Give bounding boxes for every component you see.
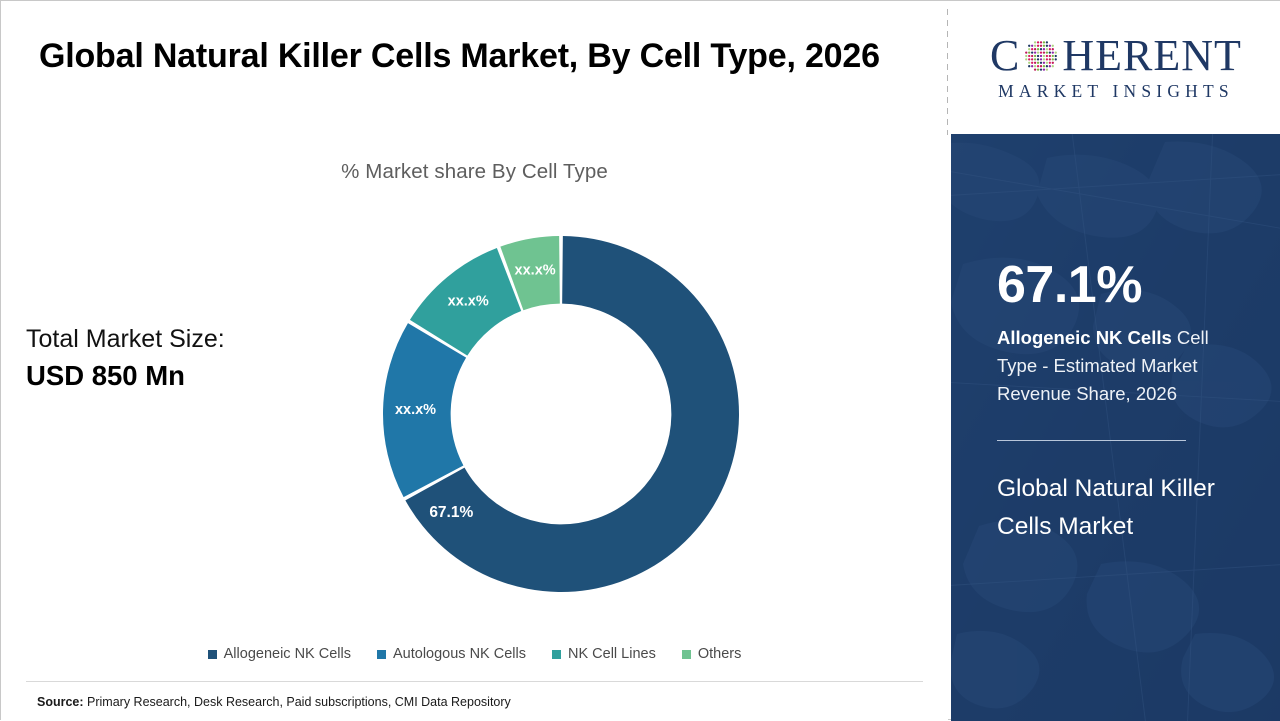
company-logo: C HERENT MARKET INSIGHTS [951, 1, 1280, 134]
globe-dot [1043, 48, 1045, 50]
globe-dot [1043, 42, 1045, 44]
panel-divider [947, 9, 948, 135]
globe-dot [1040, 62, 1042, 64]
stat-divider [997, 440, 1186, 441]
stat-description-highlight: Allogeneic NK Cells [997, 327, 1172, 348]
globe-dot [1026, 52, 1028, 54]
globe-dot [1028, 48, 1030, 50]
donut-slice-label: xx.x% [448, 294, 489, 310]
globe-dot [1040, 59, 1042, 61]
globe-dot [1040, 69, 1042, 71]
globe-dot [1031, 52, 1033, 54]
globe-dot [1031, 62, 1033, 64]
chart-legend: Allogeneic NK CellsAutologous NK CellsNK… [1, 646, 948, 662]
globe-dot [1031, 59, 1033, 61]
legend-item[interactable]: NK Cell Lines [552, 646, 656, 662]
globe-dot [1037, 48, 1039, 50]
globe-dot [1034, 69, 1036, 71]
market-name: Global Natural Killer Cells Market [997, 470, 1247, 545]
legend-swatch-icon [208, 650, 217, 659]
globe-dot [1049, 65, 1051, 67]
globe-dot [1040, 52, 1042, 54]
globe-dot [1043, 62, 1045, 64]
globe-dot [1055, 52, 1057, 54]
globe-dot [1052, 45, 1054, 47]
globe-dot [1049, 52, 1051, 54]
legend-item[interactable]: Autologous NK Cells [377, 646, 526, 662]
right-sidebar: C HERENT MARKET INSIGHTS [951, 1, 1280, 721]
infographic-root: Global Natural Killer Cells Market, By C… [0, 0, 1280, 720]
donut-chart: 67.1%xx.x%xx.x%xx.x% [379, 232, 743, 596]
globe-dot [1028, 65, 1030, 67]
globe-dot [1052, 48, 1054, 50]
globe-dot [1049, 62, 1051, 64]
legend-label: Allogeneic NK Cells [224, 646, 351, 662]
globe-dot [1031, 55, 1033, 57]
globe-dot [1026, 59, 1028, 61]
globe-dot [1049, 48, 1051, 50]
globe-dot [1040, 48, 1042, 50]
globe-dot [1037, 45, 1039, 47]
globe-dot [1037, 65, 1039, 67]
chart-subtitle: % Market share By Cell Type [1, 160, 948, 184]
globe-icon [1021, 36, 1061, 76]
globe-dot [1043, 59, 1045, 61]
globe-dot [1028, 62, 1030, 64]
globe-dot [1034, 59, 1036, 61]
legend-label: Autologous NK Cells [393, 646, 526, 662]
globe-dot [1040, 55, 1042, 57]
donut-slices [383, 236, 739, 592]
source-text: Primary Research, Desk Research, Paid su… [84, 695, 511, 709]
globe-dot [1052, 59, 1054, 61]
globe-dot [1028, 45, 1030, 47]
total-market-size-label: Total Market Size: [26, 323, 326, 357]
stat-content: 67.1% Allogeneic NK Cells Cell Type - Es… [997, 134, 1267, 545]
globe-dot [1040, 65, 1042, 67]
left-content-panel: Global Natural Killer Cells Market, By C… [1, 1, 948, 721]
donut-slice-label: xx.x% [515, 263, 556, 279]
globe-dot [1037, 52, 1039, 54]
globe-dot [1046, 42, 1048, 44]
globe-dot [1034, 52, 1036, 54]
globe-dot [1043, 52, 1045, 54]
legend-label: Others [698, 646, 742, 662]
globe-dot [1052, 52, 1054, 54]
logo-wordmark: C HERENT [990, 34, 1242, 78]
globe-dot [1055, 55, 1057, 57]
globe-dot [1043, 69, 1045, 71]
donut-slice-label: xx.x% [395, 402, 436, 418]
source-divider [26, 681, 923, 682]
globe-dot [1028, 52, 1030, 54]
globe-dot [1034, 55, 1036, 57]
legend-swatch-icon [377, 650, 386, 659]
source-note: Source: Primary Research, Desk Research,… [37, 695, 511, 709]
donut-chart-svg: 67.1%xx.x%xx.x%xx.x% [379, 232, 743, 596]
legend-swatch-icon [682, 650, 691, 659]
logo-tagline: MARKET INSIGHTS [998, 83, 1234, 101]
globe-dot [1052, 65, 1054, 67]
globe-dot [1034, 42, 1036, 44]
globe-dot [1046, 59, 1048, 61]
globe-dot [1052, 55, 1054, 57]
globe-dot [1028, 59, 1030, 61]
globe-dot [1046, 52, 1048, 54]
globe-dot [1055, 59, 1057, 61]
globe-dot [1052, 62, 1054, 64]
globe-dot [1049, 55, 1051, 57]
page-title: Global Natural Killer Cells Market, By C… [39, 31, 909, 81]
globe-dot [1031, 48, 1033, 50]
globe-dot [1034, 62, 1036, 64]
globe-dot [1034, 45, 1036, 47]
globe-dot [1037, 69, 1039, 71]
globe-dot [1046, 69, 1048, 71]
globe-dot [1046, 65, 1048, 67]
globe-dot [1046, 62, 1048, 64]
stat-description: Allogeneic NK Cells Cell Type - Estimate… [997, 324, 1247, 408]
legend-item[interactable]: Allogeneic NK Cells [208, 646, 351, 662]
logo-letter-c: C [990, 34, 1020, 78]
logo-wordmark-rest: HERENT [1062, 34, 1242, 78]
globe-dot [1046, 48, 1048, 50]
globe-dot [1026, 55, 1028, 57]
total-market-size-value: USD 850 Mn [26, 357, 326, 394]
legend-item[interactable]: Others [682, 646, 742, 662]
donut-slice-label: 67.1% [429, 504, 473, 521]
globe-dot [1037, 59, 1039, 61]
globe-dot [1049, 59, 1051, 61]
globe-dot [1049, 45, 1051, 47]
highlight-stat-panel: 67.1% Allogeneic NK Cells Cell Type - Es… [951, 134, 1280, 721]
stat-value: 67.1% [997, 259, 1267, 311]
globe-dot [1031, 45, 1033, 47]
total-market-size-block: Total Market Size: USD 850 Mn [26, 323, 326, 394]
globe-dot [1046, 55, 1048, 57]
source-label: Source: [37, 695, 84, 709]
globe-dot [1040, 42, 1042, 44]
globe-dot [1046, 45, 1048, 47]
globe-dot [1034, 48, 1036, 50]
globe-dot [1043, 55, 1045, 57]
globe-dot [1040, 45, 1042, 47]
globe-dot [1037, 55, 1039, 57]
legend-swatch-icon [552, 650, 561, 659]
globe-dot [1037, 42, 1039, 44]
globe-dot [1028, 55, 1030, 57]
globe-dot [1043, 45, 1045, 47]
legend-label: NK Cell Lines [568, 646, 656, 662]
globe-dot [1037, 62, 1039, 64]
globe-dot [1034, 65, 1036, 67]
globe-dot [1043, 65, 1045, 67]
globe-dot [1031, 65, 1033, 67]
